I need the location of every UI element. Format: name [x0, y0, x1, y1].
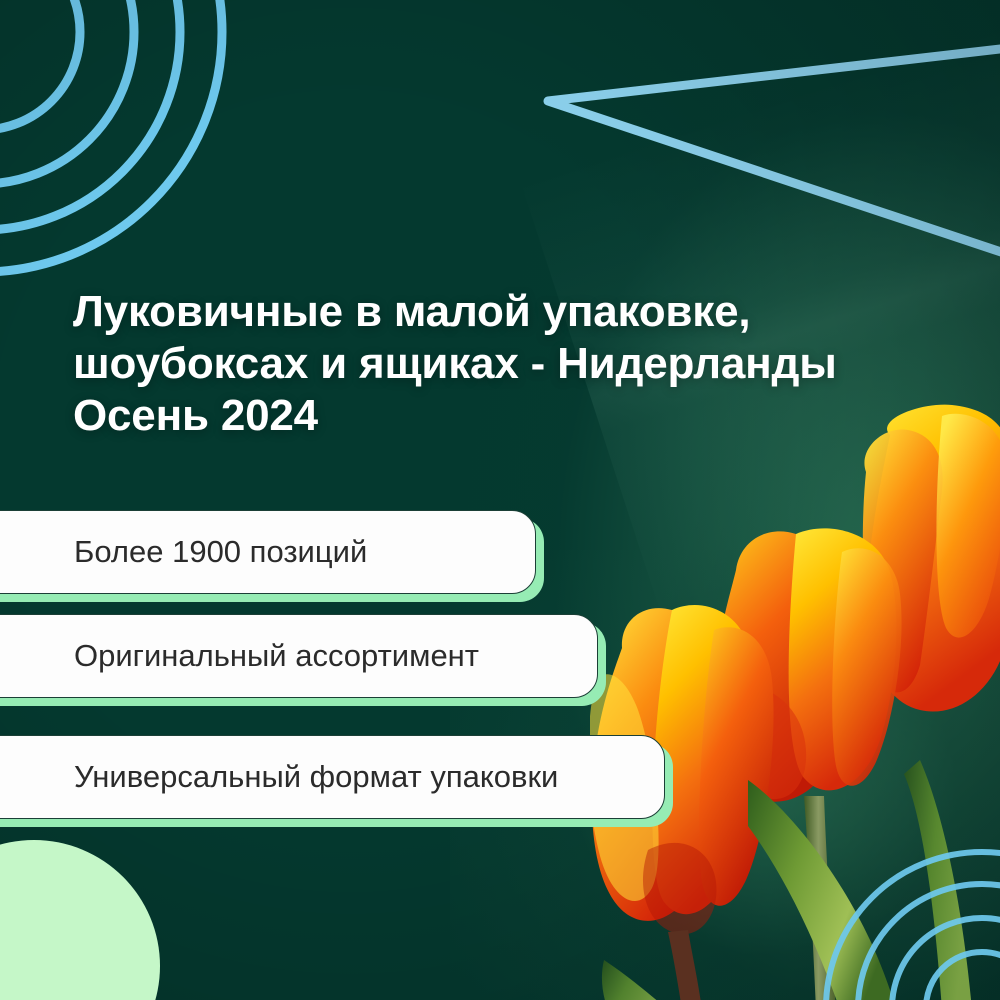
feature-pill-assortment: Оригинальный ассортимент: [0, 614, 598, 698]
promo-poster: Луковичные в малой упаковке, шоубоксах и…: [0, 0, 1000, 1000]
title-line-1: Луковичные в малой упаковке,: [73, 286, 953, 338]
title-line-3: Осень 2024: [73, 390, 953, 442]
feature-pill-label: Оригинальный ассортимент: [74, 639, 479, 673]
page-title: Луковичные в малой упаковке, шоубоксах и…: [73, 286, 953, 442]
tulips-photo: [590, 380, 1000, 1000]
feature-pill-label: Более 1900 позиций: [74, 535, 367, 569]
feature-pill-packaging: Универсальный формат упаковки: [0, 735, 665, 819]
feature-pill-label: Универсальный формат упаковки: [74, 760, 558, 794]
feature-pill-positions: Более 1900 позиций: [0, 510, 536, 594]
title-line-2: шоубоксах и ящиках - Нидерланды: [73, 338, 953, 390]
